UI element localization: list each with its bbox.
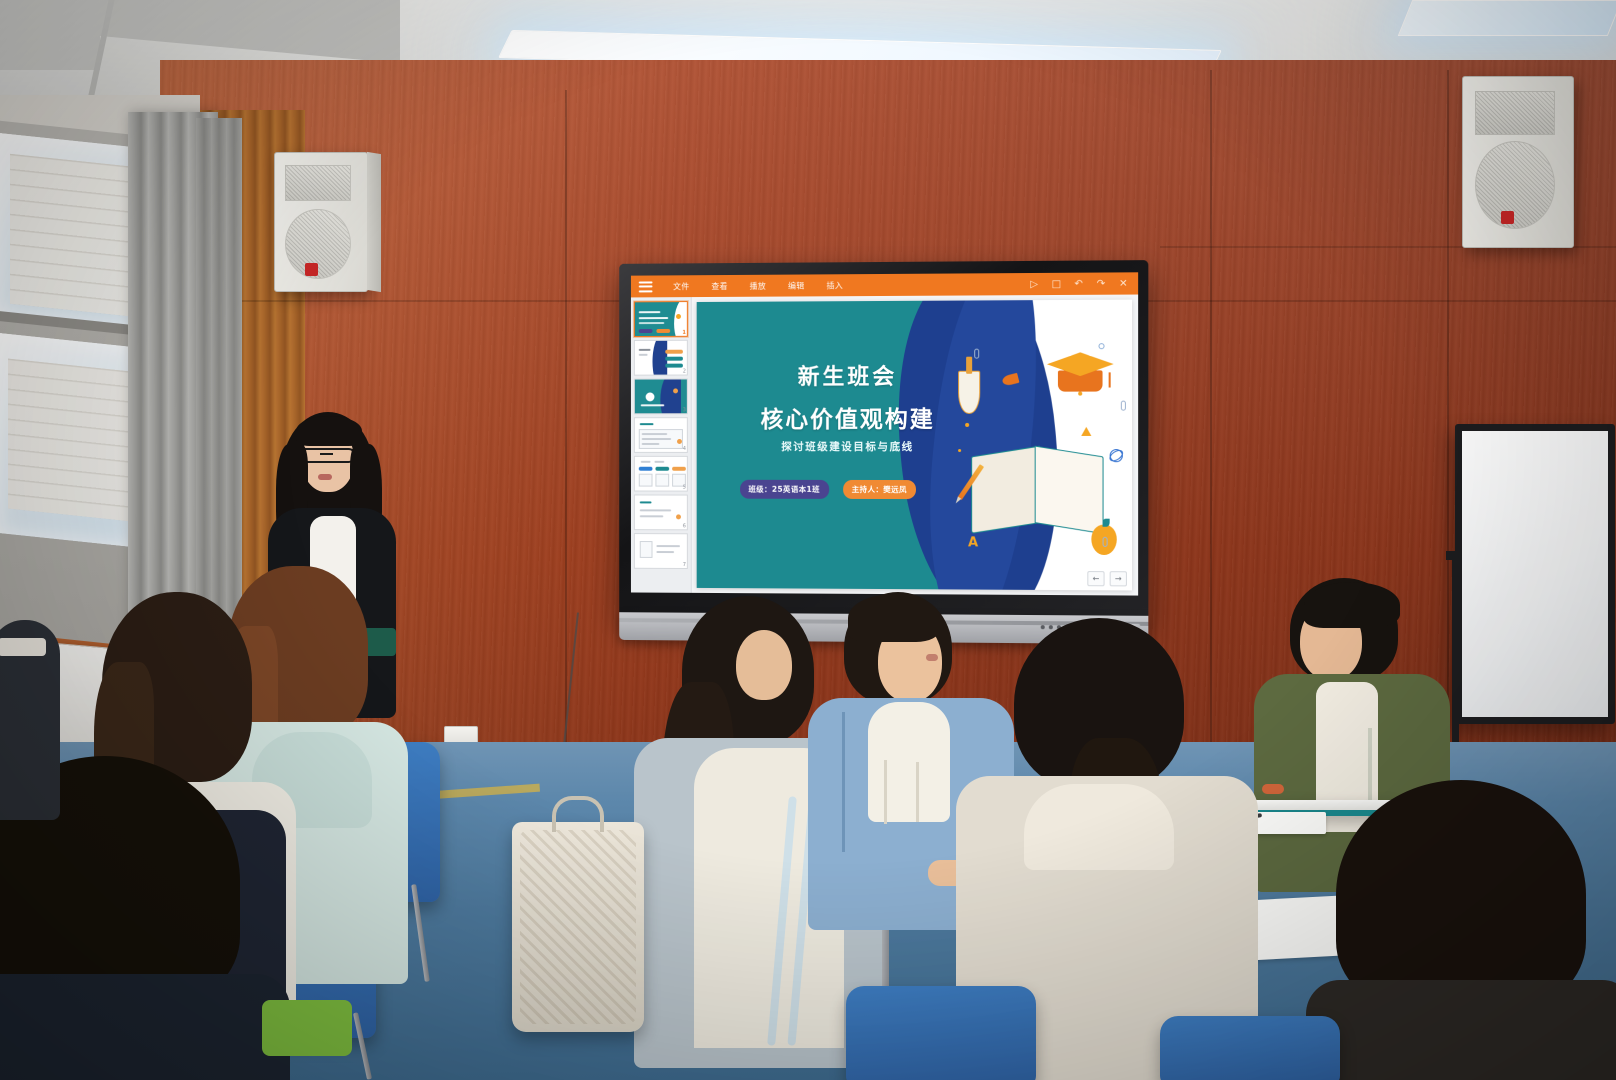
- hoodie-collar: [868, 702, 950, 822]
- flask-icon: [959, 370, 981, 414]
- cap-tassel: [1109, 373, 1111, 388]
- decor-dot: [965, 423, 969, 427]
- speaker-woofer-grille: [285, 209, 351, 279]
- slide-host-badge: 主持人：樊远凤: [843, 479, 916, 498]
- slide-thumbnail-rail[interactable]: 1 2: [631, 297, 692, 593]
- apple-leaf: [1103, 519, 1110, 527]
- thumb-number: 5: [683, 485, 686, 491]
- toolbar-spacer: [854, 284, 1020, 285]
- exterior-brick-wall: [10, 154, 130, 317]
- slide-title-line-1: 新生班会: [735, 358, 960, 391]
- student-foreground-right: [1316, 780, 1616, 1080]
- slide-illustration: A: [965, 335, 1123, 556]
- atom-icon: [1110, 449, 1123, 462]
- menu-item-edit[interactable]: 编辑: [777, 280, 815, 291]
- thumb-number: 3: [683, 407, 686, 413]
- slide-subtitle: 探讨班级建设目标与底线: [731, 439, 965, 454]
- menu-icon[interactable]: [639, 281, 653, 292]
- whiteboard-post: [1452, 559, 1459, 759]
- presentation-app-body: 1 2: [631, 295, 1138, 596]
- board-screen[interactable]: 文件 查看 播放 编辑 插入 ▷ □ ↶ ↷ ✕: [631, 272, 1138, 595]
- chair-center[interactable]: [846, 986, 1036, 1080]
- book-page-left: [971, 446, 1040, 534]
- speaker-woofer-grille: [1475, 141, 1555, 229]
- play-icon[interactable]: ▷: [1026, 275, 1043, 292]
- classroom-scene: 文件 查看 播放 编辑 插入 ▷ □ ↶ ↷ ✕: [0, 0, 1616, 1080]
- speaker-brand-logo: [305, 263, 318, 276]
- graduation-cap-icon: [1047, 352, 1114, 396]
- close-icon[interactable]: ✕: [1115, 275, 1132, 292]
- slide-class-badge: 班级：25英语本1班: [740, 479, 829, 498]
- slide-thumbnail-5[interactable]: 5: [634, 456, 688, 492]
- thumb-number: 4: [683, 446, 686, 452]
- slide-nav-buttons[interactable]: ← →: [1087, 571, 1127, 586]
- redo-icon[interactable]: ↷: [1092, 275, 1109, 292]
- exterior-brick-wall: [8, 358, 132, 521]
- menu-item-play[interactable]: 播放: [739, 280, 777, 291]
- next-slide-icon[interactable]: →: [1110, 571, 1127, 586]
- menu-item-view[interactable]: 查看: [700, 280, 738, 291]
- menu-item-insert[interactable]: 插入: [816, 280, 855, 291]
- open-book-icon: [971, 441, 1104, 529]
- prev-slide-icon[interactable]: ←: [1087, 571, 1104, 586]
- board-bezel: 文件 查看 播放 编辑 插入 ▷ □ ↶ ↷ ✕: [619, 260, 1148, 622]
- student-far-left: [0, 620, 80, 820]
- paperclip-icon: [974, 348, 979, 358]
- thumb-number: 7: [683, 562, 686, 568]
- slide-thumbnail-7[interactable]: 7: [634, 533, 688, 569]
- speaker-tweeter-grille: [285, 165, 351, 201]
- save-icon[interactable]: □: [1048, 275, 1065, 292]
- slide-title-line-2: 核心价值观构建: [722, 400, 973, 434]
- flask-neck: [966, 357, 972, 374]
- speaker-brand-logo: [1501, 211, 1514, 224]
- whiteboard: [1455, 424, 1615, 724]
- bag-pattern: [520, 830, 636, 1024]
- megaphone-icon: [1002, 373, 1020, 387]
- interactive-smart-board[interactable]: 文件 查看 播放 编辑 插入 ▷ □ ↶ ↷ ✕: [619, 260, 1148, 622]
- chair-right[interactable]: [1160, 1016, 1340, 1080]
- slide-thumbnail-6[interactable]: 6: [634, 494, 688, 530]
- presentation-app-toolbar[interactable]: 文件 查看 播放 编辑 插入 ▷ □ ↶ ↷ ✕: [631, 272, 1138, 297]
- thumb-number: 6: [683, 523, 686, 529]
- speaker-side-panel: [367, 152, 381, 292]
- triangle-ruler-icon: [1081, 427, 1091, 436]
- slide-badge-row: 班级：25英语本1班 主持人：樊远凤: [740, 479, 916, 498]
- student-bag: [512, 822, 644, 1032]
- paperclip-icon: [1102, 537, 1107, 547]
- slide-stage[interactable]: 新生班会 核心价值观构建 探讨班级建设目标与底线 班级：25英语本1班 主持人：…: [692, 295, 1138, 596]
- book-page-right: [1035, 446, 1104, 535]
- paperclip-icon: [1121, 401, 1126, 411]
- thumb-number: 1: [682, 330, 685, 336]
- hoodie-hood: [1024, 784, 1174, 870]
- ceiling-light-panel-2: [1398, 0, 1616, 36]
- wristband: [1262, 784, 1284, 794]
- bag-handle: [552, 796, 605, 832]
- undo-icon[interactable]: ↶: [1070, 275, 1087, 292]
- wall-speaker-left: [274, 152, 368, 292]
- wall-speaker-right: [1462, 76, 1574, 248]
- slide-thumbnail-1[interactable]: 1: [634, 301, 688, 337]
- menu-item-file[interactable]: 文件: [662, 281, 700, 292]
- decor-circle: [1098, 343, 1104, 349]
- slide-thumbnail-2[interactable]: 2: [634, 340, 688, 376]
- thumb-number: 2: [683, 369, 686, 375]
- slide-thumbnail-3[interactable]: 3: [634, 378, 688, 414]
- slide-thumbnail-4[interactable]: 4: [634, 417, 688, 453]
- speaker-tweeter-grille: [1475, 91, 1555, 135]
- letter-mark-icon: A: [968, 535, 978, 550]
- current-slide[interactable]: 新生班会 核心价值观构建 探讨班级建设目标与底线 班级：25英语本1班 主持人：…: [697, 300, 1132, 591]
- green-item: [262, 1000, 352, 1056]
